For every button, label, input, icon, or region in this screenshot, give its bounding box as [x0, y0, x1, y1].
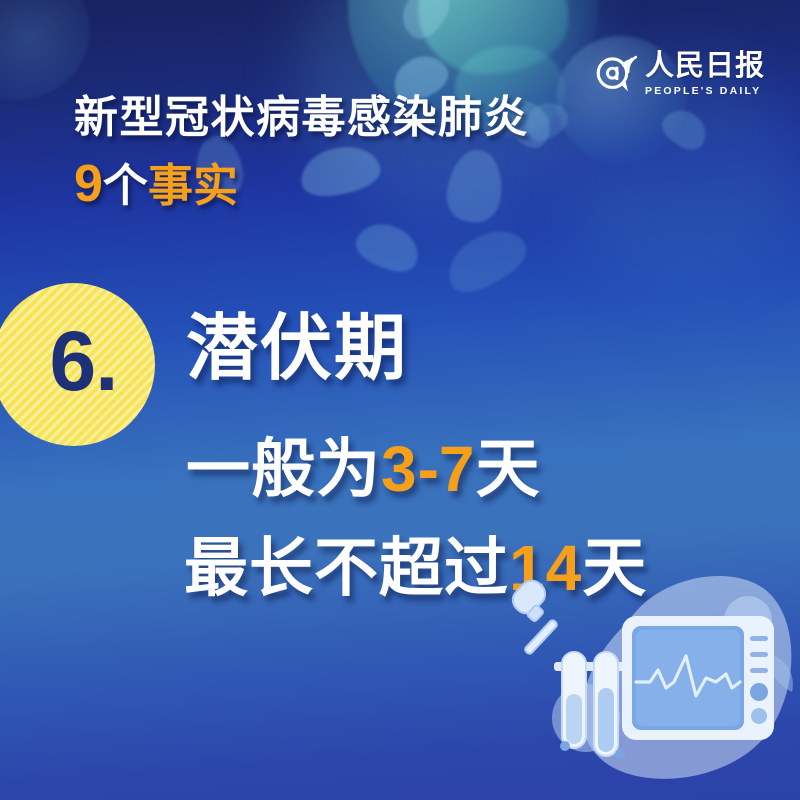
poster-canvas: 人民日报 PEOPLE'S DAILY 新型冠状病毒感染肺炎 9个事实 6. 潜…	[0, 0, 800, 800]
fact-line-2-suffix: 天	[476, 433, 541, 505]
fact-line-2-range-start: 3	[381, 433, 418, 505]
ecg-monitor-icon	[622, 616, 774, 740]
headline-fact-count: 9	[74, 155, 103, 213]
headline-sub-tail: 事实	[148, 160, 238, 211]
fact-line-3-prefix: 最长不超过	[184, 532, 509, 604]
logo-chinese-name: 人民日报	[645, 52, 765, 81]
virus-spike	[350, 216, 425, 279]
monitor-indicator-bar	[750, 668, 768, 673]
logo-english-name: PEOPLE'S DAILY	[645, 86, 761, 97]
medical-illustration	[510, 570, 800, 800]
fact-line-2-dash: -	[418, 433, 439, 505]
monitor-knob	[750, 683, 768, 701]
fact-line-2-range-end: 7	[439, 433, 476, 505]
headline-block: 新型冠状病毒感染肺炎 9个事实	[74, 96, 529, 210]
headline-subtitle: 9个事实	[74, 158, 529, 210]
fact-number-badge: 6.	[0, 283, 155, 446]
peoples-daily-logo: 人民日报 PEOPLE'S DAILY	[595, 52, 765, 97]
fact-line-2: 一般为3-7天	[186, 437, 541, 501]
at-symbol-wifi-icon	[595, 53, 639, 97]
fact-number: 6.	[49, 319, 117, 403]
virus-spike	[393, 0, 457, 46]
dropper-icon	[510, 576, 577, 663]
monitor-indicator-bar	[750, 652, 768, 657]
headline-sub-middle: 个	[103, 160, 148, 211]
virus-surface-patch	[418, 0, 568, 74]
virus-body	[0, 0, 90, 100]
test-tube-icon	[560, 652, 586, 751]
virus-spike	[438, 218, 535, 302]
headline-main-title: 新型冠状病毒感染肺炎	[74, 96, 529, 140]
monitor-knob	[751, 708, 767, 724]
monitor-indicator-bar	[750, 636, 768, 641]
fact-line-2-prefix: 一般为	[186, 433, 381, 505]
fact-heading: 潜伏期	[186, 313, 408, 385]
virus-spike	[656, 102, 713, 156]
